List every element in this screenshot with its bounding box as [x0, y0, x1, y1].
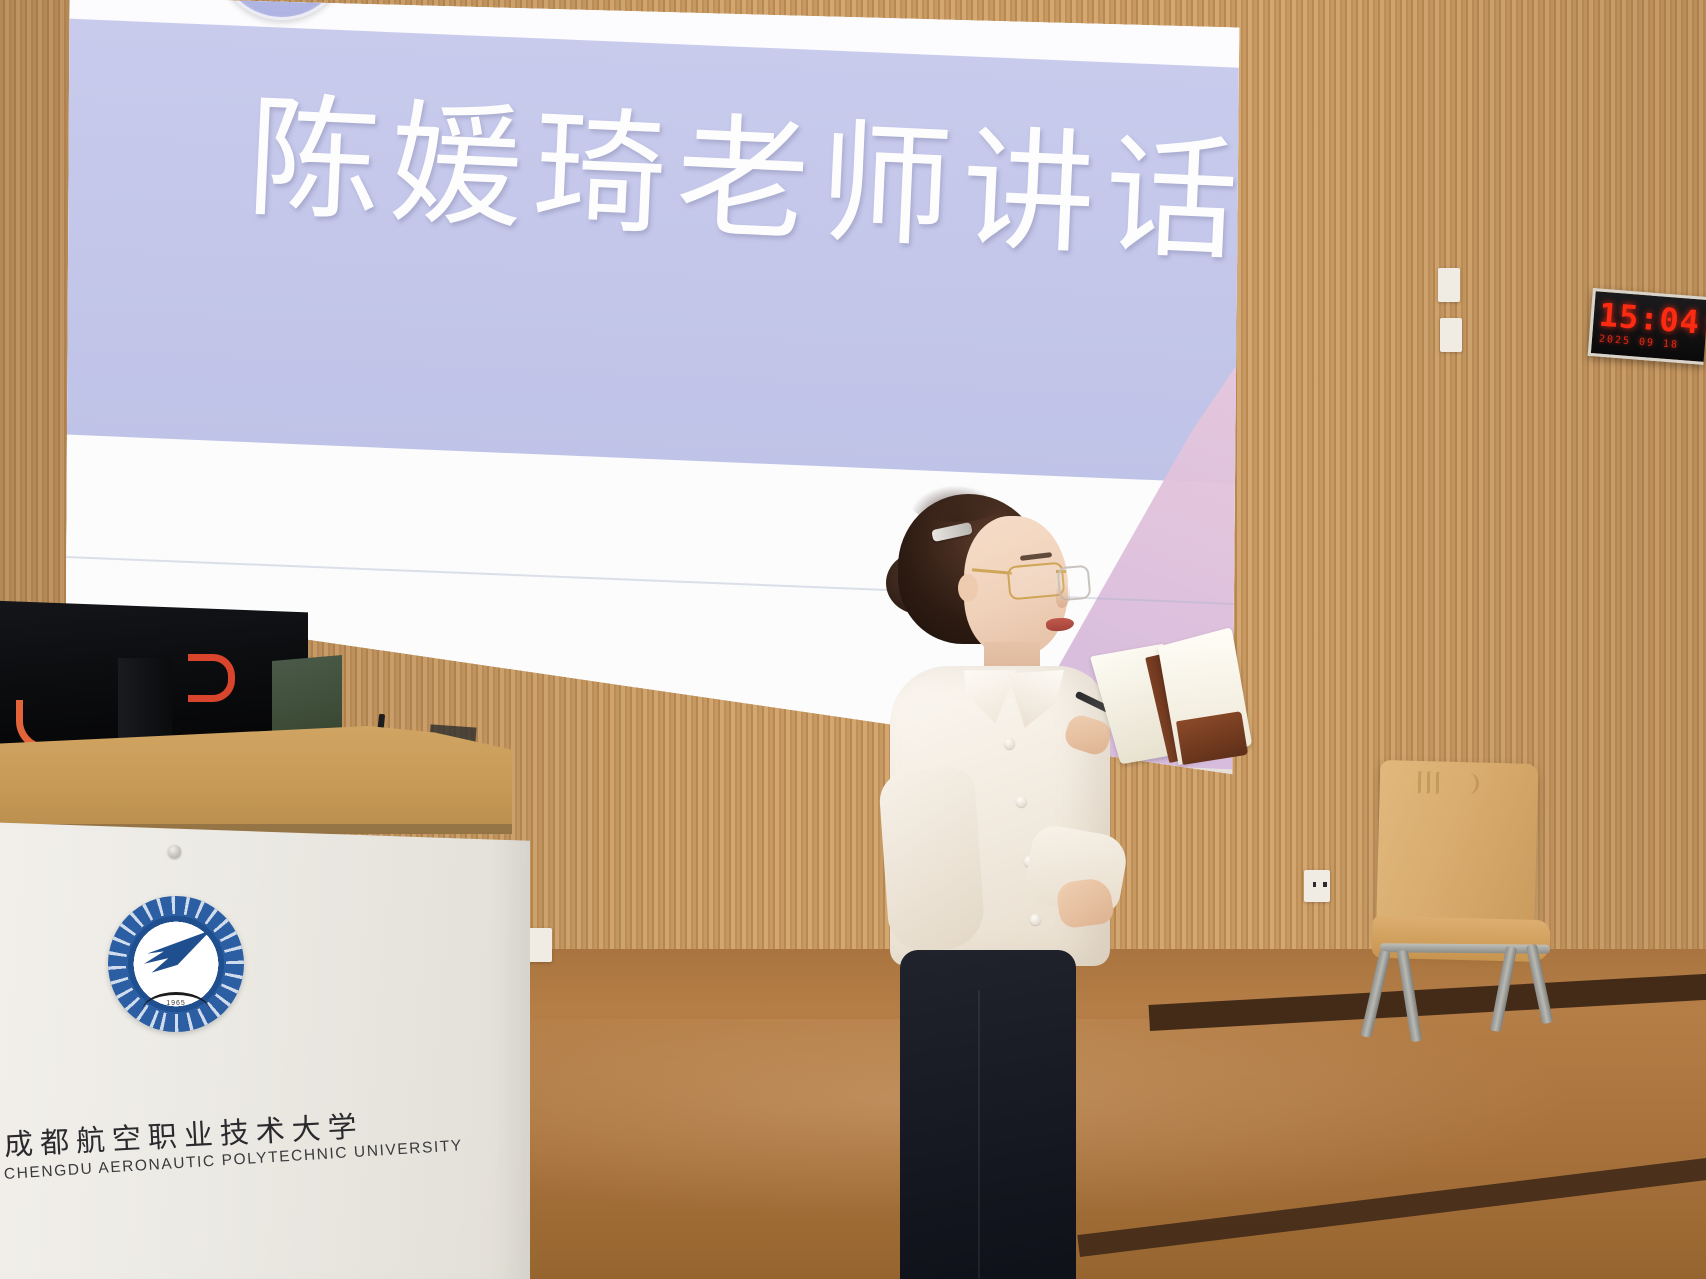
chair-emboss-detail [1418, 771, 1480, 795]
speaker [880, 470, 1140, 1279]
university-crest-icon: 1965 [108, 896, 244, 1032]
blouse-button-4 [1030, 914, 1041, 925]
blouse-button-2 [1016, 796, 1027, 807]
digital-wall-clock: 15:04:04 2025 09 18 [1588, 288, 1706, 365]
podium-front-panel [0, 812, 530, 1279]
auditorium-photo: 15:04:04 2025 09 18 陈媛琦老师讲话 1965 成都航空职业技… [0, 0, 1706, 1279]
sleeve-left [878, 767, 986, 953]
podium-screw [168, 845, 181, 858]
power-outlet[interactable] [1304, 870, 1330, 902]
blouse-button-1 [1004, 738, 1015, 749]
notebook-cover [1176, 711, 1248, 765]
hair-wisps [910, 486, 1002, 522]
podium-worktop [0, 726, 512, 834]
monitor-cable-hook [188, 654, 235, 702]
trousers [900, 950, 1076, 1279]
outlet-socket-icon [1313, 882, 1327, 887]
ear [958, 574, 978, 602]
wall-plate-upper [1438, 268, 1460, 302]
open-notebook [1105, 630, 1245, 762]
monitor-stand [118, 658, 172, 742]
wall-plate-lower [1440, 318, 1462, 352]
nose [1056, 586, 1070, 608]
trouser-seam [978, 990, 980, 1279]
crest-year-text: 1965 [154, 1000, 198, 1007]
mouth [1046, 617, 1075, 632]
